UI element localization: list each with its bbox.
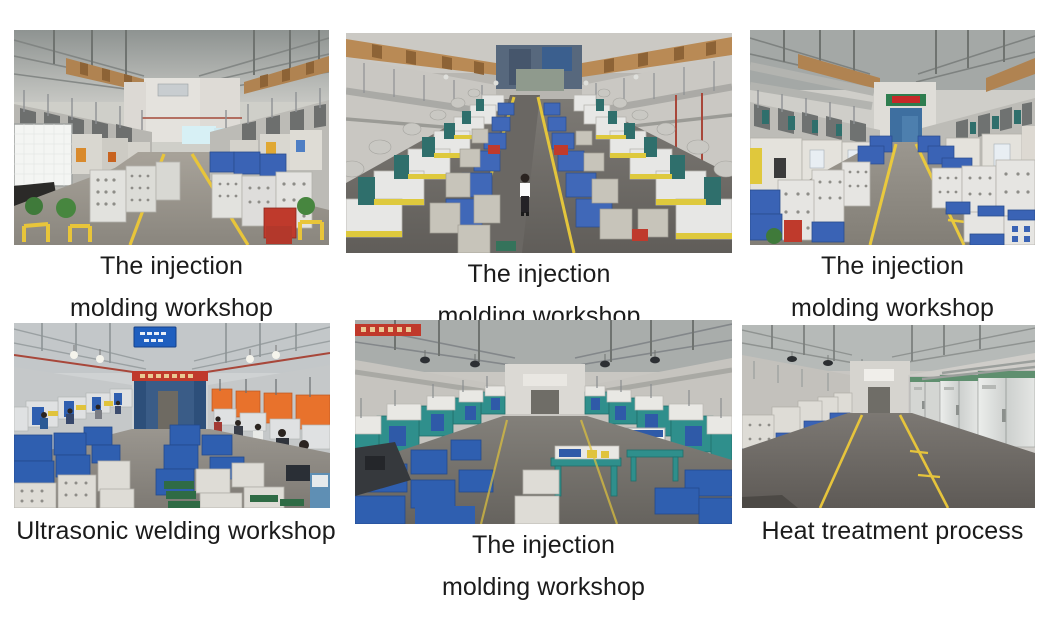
gallery-item-4[interactable] <box>14 323 330 508</box>
photo-gallery: The injection molding workshop <box>0 0 1048 628</box>
photo-ultrasonic-welding-workshop <box>14 323 330 508</box>
gallery-item-5[interactable] <box>355 320 732 524</box>
photo-injection-molding-workshop-2 <box>346 33 732 253</box>
gallery-caption-4: Ultrasonic welding workshop <box>0 510 352 552</box>
photo-injection-molding-workshop-1 <box>14 30 329 245</box>
overhead-sign <box>134 327 176 347</box>
gallery-caption-5: The injection molding workshop <box>355 524 732 608</box>
gallery-item-3[interactable] <box>750 30 1035 245</box>
worker-figure <box>520 174 530 216</box>
gallery-caption-1: The injection molding workshop <box>14 245 329 329</box>
gallery-item-1[interactable] <box>14 30 329 245</box>
photo-heat-treatment-process <box>742 325 1035 508</box>
photo-injection-molding-workshop-3 <box>750 30 1035 245</box>
gallery-item-6[interactable] <box>742 325 1035 508</box>
gallery-caption-3: The injection molding workshop <box>740 245 1045 329</box>
gallery-caption-6: Heat treatment process <box>740 510 1045 552</box>
gallery-item-2[interactable] <box>346 33 732 253</box>
photo-injection-molding-workshop-5 <box>355 320 732 524</box>
